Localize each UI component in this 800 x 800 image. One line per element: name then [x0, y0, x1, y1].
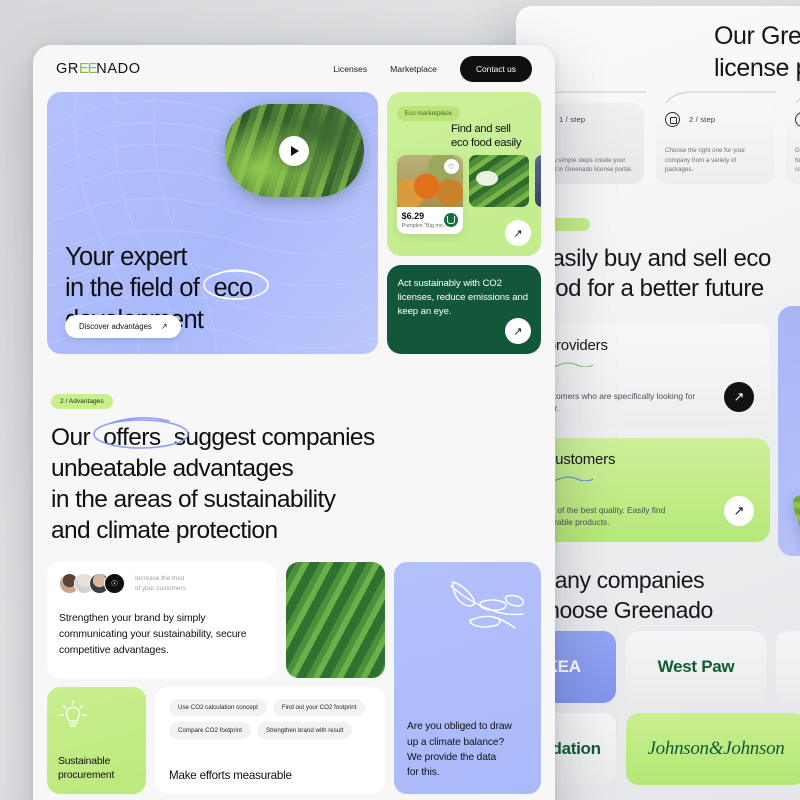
branch-icon: [447, 576, 527, 638]
logo-johnson-johnson[interactable]: Johnson&Johnson: [626, 713, 800, 785]
arrow-button[interactable]: ↗: [724, 496, 754, 526]
card-row-1: ☉ Increase the trust of your customers S…: [47, 562, 385, 678]
hero-section: Your expert in the field of eco developm…: [33, 92, 555, 354]
logo-west-paw[interactable]: West Paw: [626, 631, 766, 703]
main-nav: Licenses Marketplace Contact us: [333, 56, 532, 82]
logo-tupperware[interactable]: Tupperware: [776, 631, 800, 703]
eco-badge-icon: [444, 213, 458, 227]
section-chip-advantages: 2 / Advantages: [51, 394, 113, 409]
arrow-up-right-icon: ↗: [161, 322, 168, 331]
steps-row: 1 / step In a few simple steps create yo…: [526, 103, 800, 184]
pumpkin-image: ♡: [397, 155, 463, 207]
logo-accent-ee: EE: [79, 61, 96, 77]
main-page-panel: GREENADO Licenses Marketplace Contact us: [33, 45, 555, 800]
trust-card[interactable]: ☉ Increase the trust of your customers S…: [47, 562, 277, 678]
trust-card-body: Strengthen your brand by simply communic…: [59, 611, 265, 658]
lightbulb-icon: [58, 698, 88, 730]
sustainable-procurement-card[interactable]: Sustainable procurement: [47, 687, 146, 794]
product-thumb-berries[interactable]: [535, 155, 541, 207]
circle-annotation-icon: [201, 267, 271, 301]
advantages-section: 2 / Advantages Our offers suggest compan…: [33, 354, 555, 546]
marketplace-heading: Find and sell eco food easily: [451, 122, 531, 150]
step-card-3[interactable]: 3 / step Greenado provides you CO2 value…: [786, 103, 800, 184]
balance-card-text: Are you obliged to draw up a climate bal…: [407, 719, 529, 780]
climate-balance-card[interactable]: Are you obliged to draw up a climate bal…: [394, 562, 541, 794]
co2-arrow-button[interactable]: ↗: [505, 318, 531, 344]
hero-side-column: Eco marketplace Find and sell eco food e…: [387, 92, 541, 354]
efforts-tag[interactable]: Strengthen brand with result: [257, 722, 352, 739]
play-icon[interactable]: [279, 136, 309, 166]
phone-collage: $6.29 Blueberry: [778, 306, 800, 556]
sustainable-card-title: Sustainable procurement: [58, 755, 114, 783]
document-icon: [795, 112, 800, 127]
efforts-tag[interactable]: Compare CO2 footprint: [169, 722, 251, 739]
efforts-tag[interactable]: Use CO2 calculation concept: [169, 699, 267, 716]
trust-card-header: ☉ Increase the trust of your customers: [59, 573, 265, 594]
eco-marketplace-card[interactable]: Eco marketplace Find and sell eco food e…: [387, 92, 541, 256]
contact-us-button[interactable]: Contact us: [460, 56, 532, 82]
step-card-2[interactable]: 2 / step Choose the right one for your c…: [656, 103, 774, 184]
advantages-card-grid: ☉ Increase the trust of your customers S…: [33, 546, 555, 794]
avatar-more-icon: ☉: [104, 573, 125, 594]
efforts-card-title: Make efforts measurable: [169, 769, 292, 782]
leaf-photo-card: [286, 562, 385, 678]
co2-license-card[interactable]: Act sustainably with CO2 licenses, reduc…: [387, 265, 541, 354]
hero-video-thumbnail[interactable]: [225, 104, 364, 197]
efforts-card[interactable]: Use CO2 calculation concept Find out you…: [155, 687, 385, 794]
circle-annotation-icon: [91, 415, 191, 449]
marketplace-arrow-button[interactable]: ↗: [505, 220, 531, 246]
avatar-group: ☉: [59, 573, 119, 594]
product-thumb-cabbage[interactable]: [469, 155, 529, 207]
efforts-tag-list: Use CO2 calculation concept Find out you…: [169, 699, 369, 739]
package-icon: [665, 112, 680, 127]
advantages-headline: Our offers suggest companies unbeatable …: [51, 422, 541, 546]
phone-shot-olives: [791, 474, 800, 556]
nav-item-marketplace[interactable]: Marketplace: [390, 64, 437, 74]
heart-icon[interactable]: ♡: [444, 159, 459, 174]
card-row-2: Sustainable procurement Use CO2 calculat…: [47, 687, 385, 794]
product-card[interactable]: ♡ $6.29 Pumpkin "Big mo...: [397, 155, 463, 234]
discover-advantages-button[interactable]: Discover advantages ↗: [65, 315, 181, 338]
site-header: GREENADO Licenses Marketplace Contact us: [33, 45, 555, 92]
efforts-tag[interactable]: Find out your CO2 footprint: [273, 699, 366, 716]
partner-logo-grid: IKEA West Paw Tupperware Fundation Johns…: [516, 631, 800, 785]
left-card-column: ☉ Increase the trust of your customers S…: [47, 562, 385, 794]
trust-note: Increase the trust of your customers: [135, 574, 186, 594]
arrow-button[interactable]: ↗: [724, 382, 754, 412]
brand-logo[interactable]: GREENADO: [56, 61, 141, 77]
nav-item-licenses[interactable]: Licenses: [333, 64, 367, 74]
background-page-panel: Our Greenado license portal 1 / step In …: [516, 6, 800, 800]
eco-marketplace-chip: Eco marketplace: [397, 106, 461, 121]
co2-card-text: Act sustainably with CO2 licenses, reduc…: [398, 277, 530, 319]
hero-card: Your expert in the field of eco developm…: [47, 92, 378, 354]
